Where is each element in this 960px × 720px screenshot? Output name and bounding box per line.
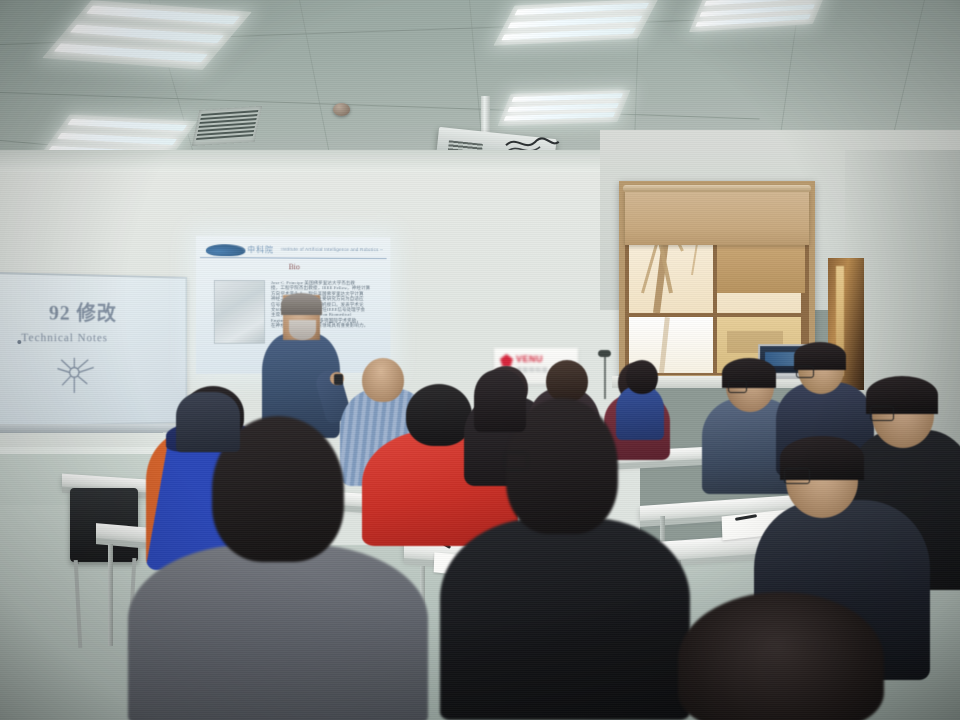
- attendee-torso: [176, 392, 240, 452]
- ceiling-light-5: [498, 90, 631, 126]
- whiteboard-line-1: 92 修改: [49, 297, 117, 327]
- eyeglasses-icon: [796, 366, 814, 378]
- whiteboard: 92 修改 Technical Notes: [0, 272, 187, 428]
- presenter-beard: [289, 320, 316, 340]
- eyeglasses-icon: [728, 380, 747, 393]
- slide-header: 中科院 Institute of Artificial Intelligence…: [200, 241, 387, 259]
- whiteboard-line-2: Technical Notes: [21, 330, 108, 345]
- attendee-head: [626, 360, 658, 394]
- attendee-torso: [128, 544, 428, 720]
- whiteboard-mark: [17, 340, 21, 344]
- eyeglasses-icon: [784, 468, 810, 484]
- banner-title: VENU: [516, 354, 543, 364]
- attendee-head: [362, 358, 404, 402]
- attendee-torso: [474, 370, 526, 432]
- attendee-torso: [616, 386, 664, 440]
- attendee-head: [546, 360, 588, 402]
- slide-logo-text: 中科院: [247, 244, 274, 255]
- whiteboard-sketch: [54, 356, 97, 395]
- attendee-torso: [440, 518, 690, 720]
- slide-title: Bio: [196, 262, 390, 272]
- eyeglasses-icon: [504, 452, 528, 470]
- ceiling-light-1: [42, 0, 252, 70]
- ceiling-light-3: [493, 0, 658, 46]
- slide-logo-icon: [206, 244, 246, 256]
- wall-ceiling-soffit: [0, 150, 660, 172]
- slide-photo-thumbnail: [214, 280, 265, 344]
- slide-header-text: Institute of Artificial Intelligence and…: [281, 247, 383, 253]
- classroom-photo: 92 修改 Technical Notes 中科院 Institute of A…: [0, 0, 960, 720]
- whiteboard-marker-tray: [0, 424, 184, 433]
- smoke-detector-icon: [333, 103, 350, 116]
- roller-blind-top[interactable]: [625, 189, 809, 245]
- attendee-head: [678, 592, 884, 720]
- presentation-clicker: [334, 374, 343, 385]
- microphone-icon: [598, 350, 611, 357]
- attendee-head: [406, 384, 472, 446]
- presenter-hair: [281, 293, 322, 315]
- desk-leg: [108, 544, 113, 646]
- air-vent-icon: [192, 106, 263, 146]
- eyeglasses-icon: [870, 406, 894, 421]
- blind-roller-icon[interactable]: [623, 185, 811, 192]
- microphone-stand: [604, 355, 606, 399]
- ceiling-light-4: [689, 0, 827, 32]
